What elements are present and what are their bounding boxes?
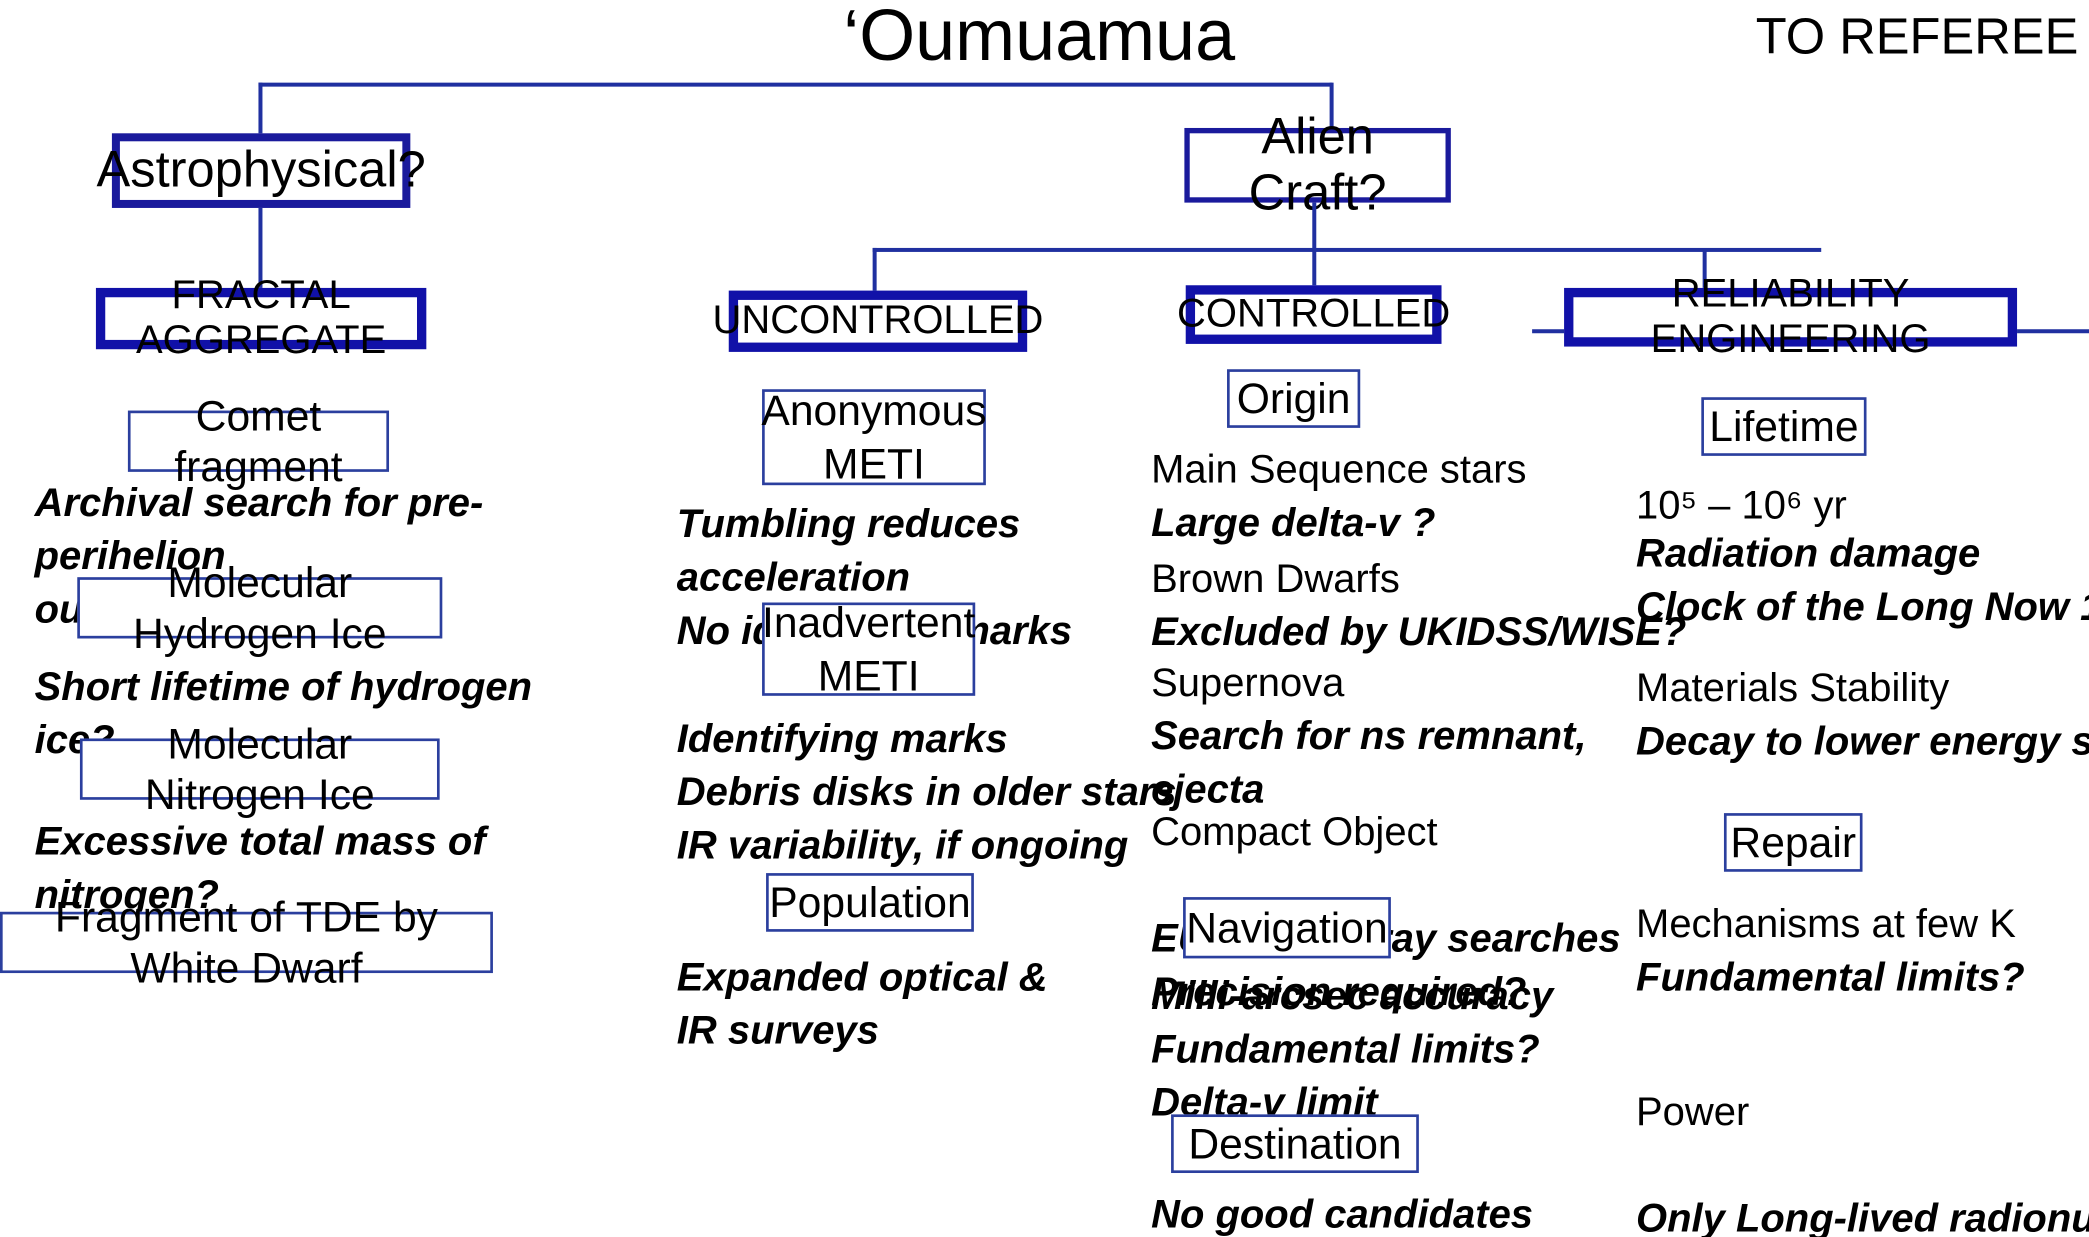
box-comet-fragment[interactable]: Comet fragment [128, 411, 389, 472]
node-reliability-engineering-label: RELIABILITY ENGINEERING [1573, 272, 2007, 363]
notes-mechanisms-head: Mechanisms at few K [1636, 898, 2089, 951]
notes-supernova-head: Supernova [1151, 657, 1711, 710]
node-alien-craft-label: Alien Craft? [1190, 109, 1446, 221]
box-navigation[interactable]: Navigation [1183, 897, 1391, 958]
notes-compact-object-head: Compact Object [1151, 806, 1711, 859]
box-fragment-tde-white-dwarf-label: Fragment of TDE by White Dwarf [3, 892, 491, 993]
box-origin-label: Origin [1237, 373, 1351, 424]
box-molecular-hydrogen-ice-label: Molecular Hydrogen Ice [80, 557, 440, 658]
referee-note: TO REFEREE [1756, 5, 2079, 69]
node-astrophysical-label: Astrophysical? [97, 143, 426, 199]
notes-main-sequence-sub: Large delta-v ? [1151, 497, 1711, 550]
node-reliability-engineering[interactable]: RELIABILITY ENGINEERING [1564, 288, 2017, 347]
node-fractal-aggregate[interactable]: FRACTAL AGGREGATE [96, 288, 426, 349]
box-anonymous-meti[interactable]: Anonymous METI [762, 389, 986, 485]
connector-root-to-astrophysical [258, 83, 262, 136]
notes-radiation-damage: Radiation damage Clock of the Long Now 1… [1636, 528, 2089, 635]
box-origin[interactable]: Origin [1227, 369, 1360, 428]
notes-mechanisms-sub: Fundamental limits? [1636, 952, 2089, 1005]
notes-materials-stability-head: Materials Stability [1636, 662, 2089, 715]
notes-lifetime-range-text: 10⁵ – 10⁶ yr [1636, 484, 1847, 528]
box-inadvertent-meti[interactable]: Inadvertent METI [762, 603, 975, 696]
box-repair[interactable]: Repair [1724, 813, 1863, 872]
notes-power: Power Only Long-lived radionuclides Alte… [1636, 1033, 2089, 1237]
notes-materials-stability-sub: Decay to lower energy states [1636, 716, 2089, 769]
node-uncontrolled-label: UNCONTROLLED [713, 299, 1044, 344]
connector-level2-horizontal [873, 248, 1822, 252]
notes-lifetime-range: 10⁵ – 10⁶ yr [1636, 480, 2089, 533]
box-fragment-tde-white-dwarf[interactable]: Fragment of TDE by White Dwarf [0, 912, 493, 973]
box-destination[interactable]: Destination [1171, 1114, 1419, 1173]
notes-power-sub: Only Long-lived radionuclides Alternativ… [1636, 1193, 2089, 1237]
box-navigation-label: Navigation [1186, 902, 1387, 953]
notes-brown-dwarfs-sub: Excluded by UKIDSS/WISE? [1151, 607, 1711, 660]
notes-brown-dwarfs-head: Brown Dwarfs [1151, 553, 1711, 606]
box-repair-label: Repair [1730, 817, 1856, 868]
box-inadvertent-meti-label: Inadvertent METI [762, 596, 975, 703]
notes-mechanisms: Mechanisms at few K Fundamental limits? [1636, 898, 2089, 1005]
notes-brown-dwarfs: Brown Dwarfs Excluded by UKIDSS/WISE? [1151, 553, 1711, 660]
diagram-canvas: ‘Oumuamua TO REFEREE Astrophysical? Alie… [0, 0, 2089, 1237]
notes-main-sequence: Main Sequence stars Large delta-v ? [1151, 444, 1711, 551]
node-uncontrolled[interactable]: UNCONTROLLED [729, 291, 1027, 352]
box-lifetime-label: Lifetime [1709, 401, 1858, 452]
box-population-label: Population [769, 877, 970, 928]
node-fractal-aggregate-label: FRACTAL AGGREGATE [105, 273, 417, 364]
box-anonymous-meti-label: Anonymous METI [761, 384, 986, 491]
notes-materials-stability: Materials Stability Decay to lower energ… [1636, 662, 2089, 769]
node-astrophysical[interactable]: Astrophysical? [112, 133, 410, 208]
node-controlled[interactable]: CONTROLLED [1186, 285, 1442, 344]
box-molecular-hydrogen-ice[interactable]: Molecular Hydrogen Ice [77, 577, 442, 638]
node-alien-craft[interactable]: Alien Craft? [1184, 128, 1450, 203]
box-molecular-nitrogen-ice[interactable]: Molecular Nitrogen Ice [80, 738, 440, 799]
notes-main-sequence-head: Main Sequence stars [1151, 444, 1711, 497]
box-lifetime[interactable]: Lifetime [1701, 397, 1866, 456]
notes-power-head: Power [1636, 1086, 2089, 1139]
box-population[interactable]: Population [766, 873, 974, 932]
connector-root-horizontal [258, 83, 1332, 87]
box-destination-label: Destination [1188, 1118, 1401, 1169]
box-molecular-nitrogen-ice-label: Molecular Nitrogen Ice [83, 718, 437, 819]
node-controlled-label: CONTROLLED [1177, 292, 1450, 337]
connector-to-uncontrolled [873, 248, 877, 291]
